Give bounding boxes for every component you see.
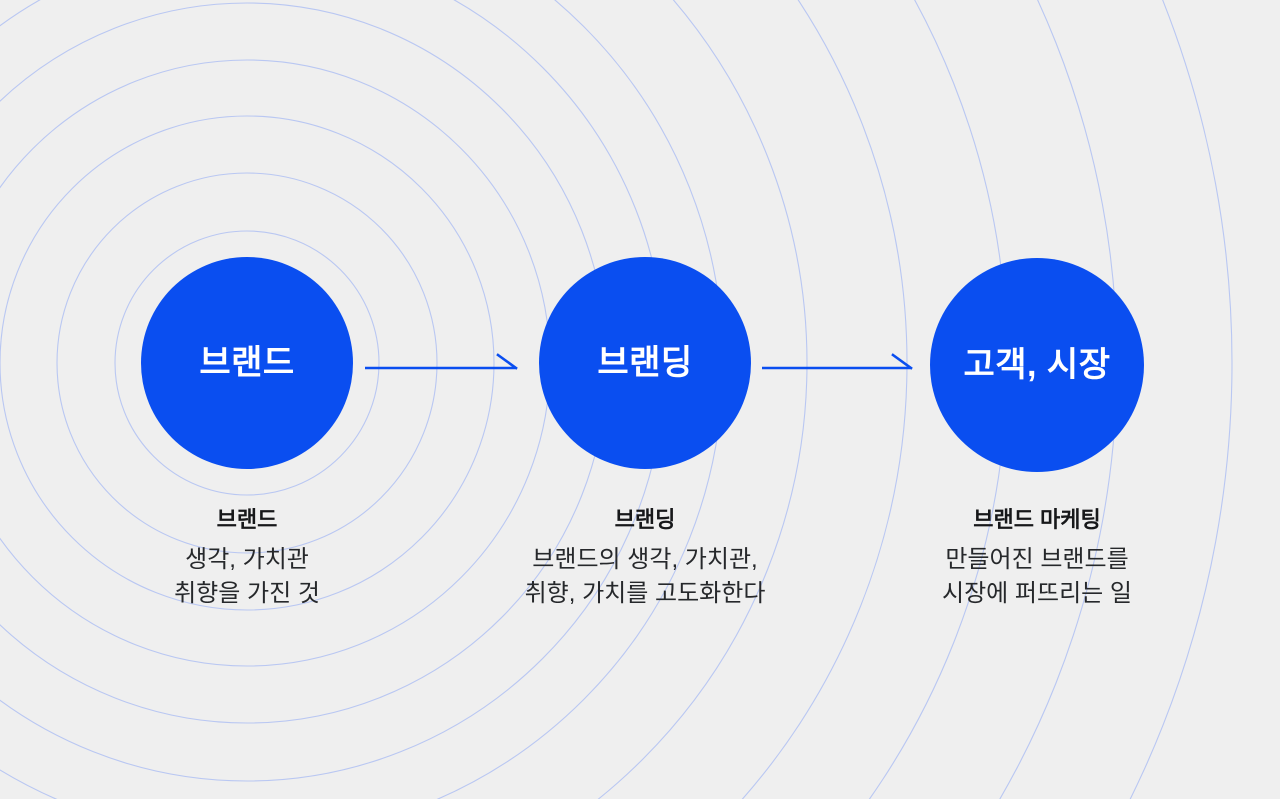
caption-brand-marketing-line-1: 만들어진 브랜드를 [897,543,1177,577]
caption-brand-marketing-line-2: 시장에 퍼뜨리는 일 [897,577,1177,611]
caption-branding-body: 브랜드의 생각, 가치관, 취향, 가치를 고도화한다 [505,543,785,611]
arrow-brand-to-branding-icon [365,352,520,376]
caption-brand-title: 브랜드 [107,506,387,534]
caption-brand: 브랜드 생각, 가치관 취향을 가진 것 [107,506,387,611]
caption-brand-marketing-body: 만들어진 브랜드를 시장에 퍼뜨리는 일 [897,543,1177,611]
node-circle-branding[interactable]: 브랜딩 [539,257,751,469]
caption-branding-line-1: 브랜드의 생각, 가치관, [505,543,785,577]
node-circle-brand[interactable]: 브랜드 [141,257,353,469]
diagram-canvas: 브랜드 브랜드 생각, 가치관 취향을 가진 것 브랜딩 브랜딩 브랜드의 생각… [0,0,1280,799]
caption-brand-line-2: 취향을 가진 것 [107,577,387,611]
caption-branding: 브랜딩 브랜드의 생각, 가치관, 취향, 가치를 고도화한다 [505,506,785,611]
arrow-branding-to-market-icon [762,352,915,376]
flow-diagram: 브랜드 브랜드 생각, 가치관 취향을 가진 것 브랜딩 브랜딩 브랜드의 생각… [0,0,1280,799]
caption-brand-marketing: 브랜드 마케팅 만들어진 브랜드를 시장에 퍼뜨리는 일 [897,506,1177,611]
node-circle-customer-market-label: 고객, 시장 [963,348,1110,382]
node-circle-branding-label: 브랜딩 [597,346,692,380]
caption-brand-body: 생각, 가치관 취향을 가진 것 [107,543,387,611]
caption-brand-marketing-title: 브랜드 마케팅 [897,506,1177,534]
node-circle-customer-market[interactable]: 고객, 시장 [930,258,1144,472]
caption-branding-title: 브랜딩 [505,506,785,534]
caption-brand-line-1: 생각, 가치관 [107,543,387,577]
node-circle-brand-label: 브랜드 [199,346,294,380]
caption-branding-line-2: 취향, 가치를 고도화한다 [505,577,785,611]
